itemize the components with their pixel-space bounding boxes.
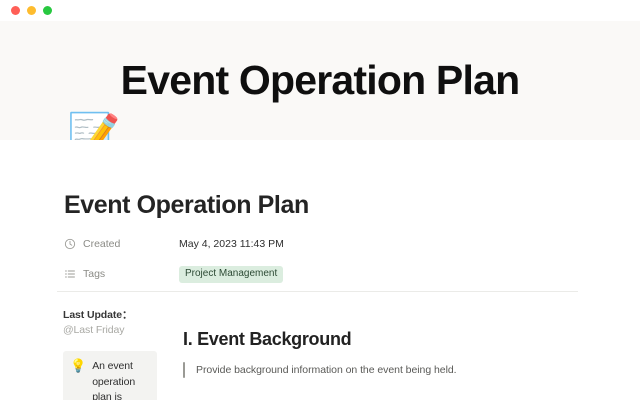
property-label-tags: Tags bbox=[64, 268, 179, 280]
property-value-created[interactable]: May 4, 2023 11:43 PM bbox=[179, 238, 284, 250]
last-update-label: Last Update： bbox=[63, 308, 163, 323]
page-title[interactable]: Event Operation Plan bbox=[64, 190, 309, 220]
property-label-created: Created bbox=[64, 238, 179, 250]
traffic-light-buttons bbox=[11, 6, 52, 15]
page-body: Event Operation Plan Created May 4, 2023… bbox=[0, 140, 640, 400]
property-row-created[interactable]: Created May 4, 2023 11:43 PM bbox=[64, 232, 364, 256]
callout-text: An event operation plan is bbox=[92, 359, 149, 400]
window-titlebar bbox=[0, 0, 640, 21]
callout-block[interactable]: 💡 An event operation plan is bbox=[63, 351, 157, 400]
property-name-tags: Tags bbox=[83, 268, 105, 280]
minimize-button[interactable] bbox=[27, 6, 36, 15]
lightbulb-emoji-icon: 💡 bbox=[70, 359, 86, 373]
property-row-tags[interactable]: Tags Project Management bbox=[64, 262, 364, 286]
banner-title: Event Operation Plan bbox=[121, 60, 520, 101]
quote-bar bbox=[183, 362, 185, 378]
quote-text: Provide background information on the ev… bbox=[196, 362, 457, 378]
property-name-created: Created bbox=[83, 238, 120, 250]
list-icon bbox=[64, 268, 76, 280]
right-column: I. Event Background Provide background i… bbox=[183, 328, 583, 378]
property-value-tags[interactable]: Project Management bbox=[179, 266, 283, 283]
status-badge[interactable]: Project Management bbox=[179, 266, 283, 283]
close-button[interactable] bbox=[11, 6, 20, 15]
quote-block[interactable]: Provide background information on the ev… bbox=[183, 362, 583, 378]
left-column: Last Update： @Last Friday 💡 An event ope… bbox=[63, 308, 163, 400]
clock-icon bbox=[64, 238, 76, 250]
maximize-button[interactable] bbox=[43, 6, 52, 15]
page-properties: Created May 4, 2023 11:43 PM Tags Projec… bbox=[64, 232, 364, 292]
app-window: Event Operation Plan 📝 Event Operation P… bbox=[0, 0, 640, 400]
section-heading-event-background[interactable]: I. Event Background bbox=[183, 328, 583, 351]
last-update-value: @Last Friday bbox=[63, 323, 163, 338]
content-divider bbox=[57, 291, 578, 292]
